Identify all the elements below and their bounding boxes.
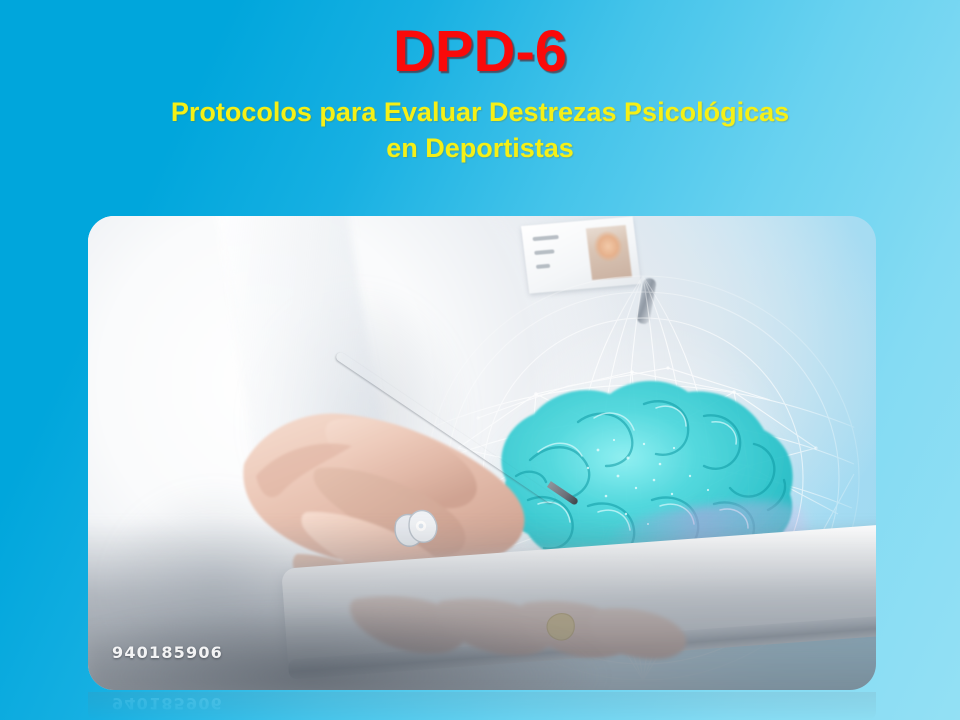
subtitle: Protocolos para Evaluar Destrezas Psicol… — [0, 83, 960, 166]
id-badge-text-line — [532, 235, 558, 241]
watermark-reflection: 940185906 — [112, 694, 223, 713]
title-block: DPD-6 Protocolos para Evaluar Destrezas … — [0, 0, 960, 166]
slide-canvas: DPD-6 Protocolos para Evaluar Destrezas … — [0, 0, 960, 720]
image-watermark: 940185906 — [112, 643, 223, 662]
hero-image-reflection: 940185906 — [88, 692, 876, 720]
subtitle-line-1: Protocolos para Evaluar Destrezas Psicol… — [0, 95, 960, 131]
page-title: DPD-6 — [0, 0, 960, 83]
hero-image-backdrop: 940185906 — [88, 216, 876, 690]
id-badge-text-line — [534, 249, 554, 255]
subtitle-line-2: en Deportistas — [0, 131, 960, 167]
hero-image: 940185906 — [88, 216, 876, 690]
lower-body-shadow-secondary — [88, 580, 648, 690]
